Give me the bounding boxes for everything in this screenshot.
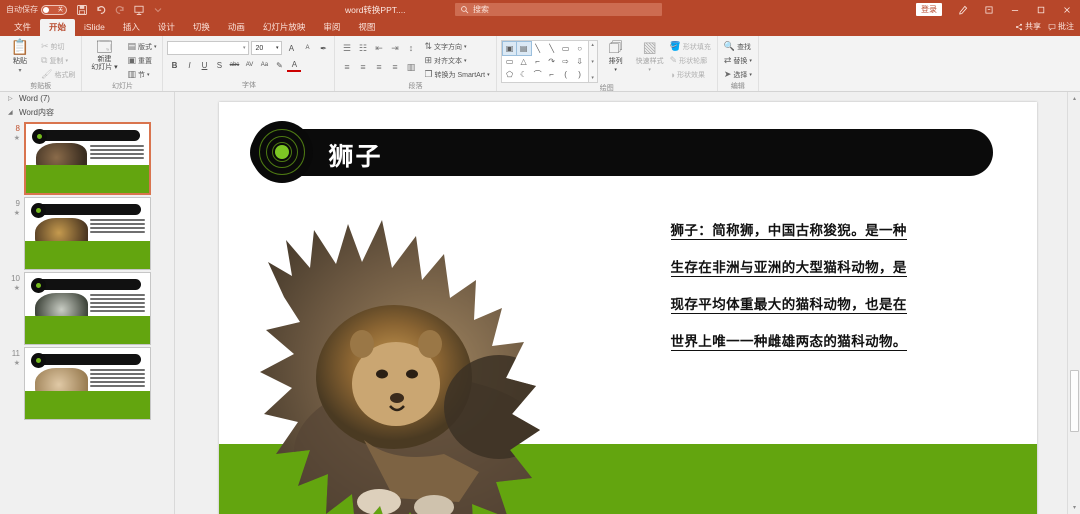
slide-number-9: 9 ★ (2, 197, 22, 219)
close-icon[interactable] (1054, 0, 1080, 19)
autosave-switch[interactable]: 关 (41, 5, 67, 15)
slide-thumbnail-8[interactable] (24, 122, 151, 195)
slide-title-text[interactable]: 狮子 (329, 137, 383, 173)
layout-button[interactable]: ▤ 版式 ▾ (125, 40, 158, 53)
body-line-2: 现存平均体重最大的猫科动物，也是在 (671, 297, 907, 314)
tab-islide[interactable]: iSlide (75, 19, 114, 36)
animation-star-icon: ★ (2, 359, 20, 369)
ribbon-group-font: ▾ 20 ▾ A A ✒ B I U S abc AV Aa ✎ A (163, 36, 335, 91)
thumb-body-lines (90, 145, 144, 159)
align-text-button[interactable]: ⊞ 对齐文本 ▾ (422, 54, 491, 67)
paste-icon: 📋 (11, 40, 30, 55)
align-left-button[interactable]: ≡ (339, 60, 354, 74)
scroll-down-icon[interactable]: ▾ (591, 59, 594, 65)
layout-icon: ▤ (127, 41, 136, 52)
thumb-green-band (25, 391, 150, 419)
animation-star-icon: ★ (2, 134, 20, 144)
slide-thumbnail-9[interactable] (24, 197, 151, 270)
tab-review[interactable]: 审阅 (314, 19, 349, 36)
autosave-toggle[interactable]: 自动保存 关 (6, 4, 67, 15)
arrange-label: 排列 (609, 56, 623, 66)
ribbon-group-clipboard: 📋 粘贴 ▾ ✂ 剪切 ⧉ 复制 ▾ 🖌 格式刷 剪贴板 (0, 36, 82, 91)
ribbon-tab-strip: 文件 开始 iSlide 插入 设计 切换 动画 幻灯片放映 审阅 视图 共享 … (0, 19, 1080, 36)
search-placeholder: 搜索 (473, 4, 489, 15)
slides-group-label: 幻灯片 (86, 81, 158, 92)
thumbnail-item-10[interactable]: 10 ★ (0, 270, 174, 345)
tab-transitions[interactable]: 切换 (184, 19, 219, 36)
tab-file[interactable]: 文件 (5, 19, 40, 36)
text-direction-button[interactable]: ⇅ 文字方向 ▾ (422, 40, 491, 53)
thumb-body-lines (90, 219, 145, 233)
share-icon (1015, 23, 1023, 31)
window-controls: 登录 (916, 0, 1080, 19)
shape-rounded-rect-icon[interactable]: ▭ (503, 55, 517, 68)
text-direction-icon: ⇅ (424, 41, 432, 52)
underline-button[interactable]: U (197, 58, 211, 72)
align-text-icon: ⊞ (424, 55, 432, 66)
clear-formatting-button[interactable]: ✒ (316, 41, 330, 55)
quick-styles-button[interactable]: ▧ 快速样式 ▾ (634, 38, 666, 73)
align-center-button[interactable]: ≡ (355, 60, 370, 74)
align-right-button[interactable]: ≡ (371, 60, 386, 74)
thumb-title-bar (36, 279, 141, 290)
vertical-scrollbar[interactable]: ▴ ▾ (1067, 92, 1080, 514)
undo-icon[interactable] (95, 4, 107, 16)
decrease-indent-button[interactable]: ⇤ (371, 41, 386, 55)
italic-button[interactable]: I (182, 58, 196, 72)
thumb-title-bar (36, 204, 141, 215)
tab-view[interactable]: 视图 (349, 19, 384, 36)
bold-button[interactable]: B (167, 58, 181, 72)
maximize-icon[interactable] (1028, 0, 1054, 19)
new-slide-button[interactable]: 🗔 新建幻灯片 ▾ (86, 38, 122, 72)
shape-effects-label: 形状效果 (677, 70, 705, 80)
shape-line-icon[interactable]: ╲ (531, 42, 545, 55)
current-slide[interactable]: 狮子 (219, 102, 1037, 514)
ribbon: 📋 粘贴 ▾ ✂ 剪切 ⧉ 复制 ▾ 🖌 格式刷 剪贴板 (0, 36, 1080, 92)
reset-button[interactable]: ▣ 重置 (125, 54, 158, 67)
convert-smartart-button[interactable]: ❐ 转换为 SmartArt ▾ (422, 68, 491, 81)
shape-triangle-icon[interactable]: △ (517, 55, 531, 68)
comments-label: 批注 (1058, 21, 1074, 32)
thumb-badge-icon (31, 353, 46, 368)
scissors-icon: ✂ (41, 41, 49, 52)
slide-thumbnail-panel[interactable]: ▷ Word (7) ◢ Word内容 8 ★ 9 (0, 92, 175, 514)
outline-section-word7[interactable]: ▷ Word (7) (0, 92, 174, 105)
shrink-font-button[interactable]: A (300, 41, 314, 55)
body-line-1: 生存在非洲与亚洲的大型猫科动物，是 (671, 260, 907, 277)
shape-outline-button[interactable]: ✎ 形状轮廓 (668, 54, 713, 67)
outline-section-word-content[interactable]: ◢ Word内容 (0, 105, 174, 120)
slide-badge-target-icon (251, 121, 313, 183)
thumb-body-lines (90, 369, 145, 387)
slide-number-11: 11 ★ (2, 347, 22, 369)
minimize-icon[interactable] (1002, 0, 1028, 19)
reset-label: 重置 (138, 56, 152, 66)
reset-icon: ▣ (127, 55, 136, 66)
thumbnail-item-11[interactable]: 11 ★ (0, 345, 174, 420)
replace-button[interactable]: ⇄ 替换 ▾ (722, 54, 754, 67)
ribbon-group-paragraph: ☰ ☷ ⇤ ⇥ ↕ ≡ ≡ ≡ ≡ ▥ ⇅ 文字方向 ▾ (335, 36, 496, 91)
copy-button[interactable]: ⧉ 复制 ▾ (39, 54, 77, 67)
quick-styles-icon: ▧ (643, 40, 657, 55)
redo-icon[interactable] (114, 4, 126, 16)
text-shadow-button[interactable]: S (212, 58, 226, 72)
present-icon[interactable] (133, 4, 145, 16)
chevron-down-icon[interactable]: ▾ (18, 67, 21, 74)
section-button[interactable]: ▥ 节 ▾ (125, 68, 158, 81)
text-direction-label: 文字方向 (434, 42, 462, 52)
thumb-green-band (25, 316, 150, 344)
font-group-label: 字体 (167, 80, 330, 91)
thumb-badge-icon (31, 278, 46, 293)
shape-fill-label: 形状填充 (683, 42, 711, 52)
scrollbar-thumb[interactable] (1070, 370, 1079, 432)
tab-home[interactable]: 开始 (40, 19, 75, 36)
align-text-label: 对齐文本 (434, 56, 462, 66)
justify-button[interactable]: ≡ (387, 60, 402, 74)
document-title: word转换PPT.... (345, 4, 405, 16)
animation-star-icon: ★ (2, 284, 20, 294)
replace-label: 替换 (733, 56, 747, 66)
shape-arrow-icon[interactable]: ╲ (545, 42, 559, 55)
more-commands-icon[interactable] (152, 4, 164, 16)
save-icon[interactable] (76, 4, 88, 16)
chevron-right-icon[interactable]: ▷ (8, 95, 15, 102)
search-input[interactable]: 搜索 (455, 3, 662, 16)
autosave-label: 自动保存 (6, 4, 38, 15)
shape-effects-button[interactable]: ◑ 形状效果 (668, 68, 713, 81)
tab-design[interactable]: 设计 (149, 19, 184, 36)
quick-styles-label: 快速样式 (636, 56, 664, 66)
shapes-more-icon[interactable]: ▾ (591, 75, 594, 81)
search-icon (460, 5, 469, 14)
grow-font-button[interactable]: A (284, 41, 298, 55)
slide-canvas-area: 狮子 (175, 92, 1080, 514)
shape-rectangle-icon[interactable]: ▭ (559, 42, 573, 55)
shape-left-brace-icon[interactable]: ( (559, 68, 573, 81)
slide-number-label: 9 (16, 199, 20, 208)
tab-insert[interactable]: 插入 (114, 19, 149, 36)
new-slide-icon: 🗔 (96, 40, 112, 55)
cut-button[interactable]: ✂ 剪切 (39, 40, 77, 53)
outline-label-0: Word (7) (19, 94, 50, 103)
title-bar: 自动保存 关 word转换PPT.... 搜 (0, 0, 1080, 19)
shape-oval-icon[interactable]: ○ (573, 42, 587, 55)
effects-icon: ◑ (670, 70, 675, 80)
ribbon-group-editing: 🔍 查找 ⇄ 替换 ▾ ➤ 选择 ▾ 编辑 (718, 36, 759, 91)
chevron-down-icon[interactable]: ◢ (8, 109, 15, 116)
font-color-button[interactable]: A (287, 58, 301, 72)
scroll-up-icon[interactable]: ▴ (591, 42, 594, 48)
paste-button[interactable]: 📋 粘贴 ▾ (4, 38, 36, 74)
font-size-combobox[interactable]: 20 ▾ (251, 41, 282, 55)
shape-down-arrow-icon[interactable]: ⇩ (573, 55, 587, 68)
scroll-down-icon[interactable]: ▾ (1068, 501, 1080, 514)
share-button[interactable]: 共享 (1015, 21, 1041, 32)
arrange-icon: 🗇 (609, 40, 623, 55)
search-icon: 🔍 (724, 41, 735, 52)
increase-indent-button[interactable]: ⇥ (387, 41, 402, 55)
thumb-badge-icon (31, 203, 46, 218)
format-painter-button[interactable]: 🖌 格式刷 (39, 68, 77, 81)
shape-pentagon-icon[interactable]: ⬠ (503, 68, 517, 81)
smartart-label: 转换为 SmartArt (435, 70, 486, 80)
copy-icon: ⧉ (41, 55, 47, 66)
thumbnail-item-9[interactable]: 9 ★ (0, 195, 174, 270)
strikethrough-button[interactable]: abc (227, 58, 241, 72)
new-slide-label: 新建幻灯片 ▾ (91, 56, 117, 72)
cut-label: 剪切 (51, 42, 65, 52)
tab-slideshow[interactable]: 幻灯片放映 (254, 19, 315, 36)
character-spacing-button[interactable]: AV (242, 58, 256, 72)
slide-number-label: 8 (16, 124, 20, 133)
shape-outline-label: 形状轮廓 (679, 56, 707, 66)
comment-icon (1048, 23, 1056, 31)
find-button[interactable]: 🔍 查找 (722, 40, 754, 53)
section-icon: ▥ (127, 69, 136, 80)
thumb-green-band (26, 165, 149, 193)
layout-label: 版式 (138, 42, 152, 52)
slide-thumbnail-11[interactable] (24, 347, 151, 420)
fill-bucket-icon: 🪣 (670, 41, 681, 52)
select-cursor-icon: ➤ (724, 69, 732, 80)
autosave-state: 关 (58, 6, 63, 13)
shape-moon-icon[interactable]: ☾ (517, 68, 531, 81)
text-highlight-button[interactable]: ✎ (272, 58, 286, 72)
shape-fill-button[interactable]: 🪣 形状填充 (668, 40, 713, 53)
paste-label: 粘贴 (13, 56, 27, 66)
ribbon-group-slides: 🗔 新建幻灯片 ▾ ▤ 版式 ▾ ▣ 重置 ▥ 节 ▾ (82, 36, 163, 91)
thumb-body-lines (90, 294, 145, 312)
shape-arc-icon[interactable]: ⌒ (531, 68, 545, 81)
thumb-title-bar (37, 130, 140, 140)
tab-animations[interactable]: 动画 (219, 19, 254, 36)
brush-icon: 🖌 (41, 69, 52, 80)
editing-group-label: 编辑 (722, 81, 754, 92)
slide-number-10: 10 ★ (2, 272, 22, 294)
thumb-title-bar (36, 354, 141, 365)
numbering-button[interactable]: ☷ (355, 41, 370, 55)
shape-vertical-textbox-icon[interactable]: ▤ (517, 42, 531, 55)
shapes-gallery[interactable]: ▣ ▤ ╲ ╲ ▭ ○ ▭ △ ⌐ ↷ ⇨ ⇩ ⬠ ☾ ⌒ ⌐ ( (501, 40, 589, 83)
shape-corner-icon[interactable]: ⌐ (545, 68, 559, 81)
outline-label-1: Word内容 (19, 107, 54, 118)
font-name-combobox[interactable]: ▾ (167, 41, 249, 55)
thumb-badge-icon (32, 129, 47, 144)
signin-button[interactable]: 登录 (916, 3, 942, 16)
ribbon-group-drawing: ▣ ▤ ╲ ╲ ▭ ○ ▭ △ ⌐ ↷ ⇨ ⇩ ⬠ ☾ ⌒ ⌐ ( (497, 36, 718, 91)
thumb-green-band (25, 241, 150, 269)
smartart-icon: ❐ (424, 69, 432, 80)
outline-pen-icon: ✎ (670, 55, 678, 66)
restore-window-icon[interactable] (976, 0, 1002, 19)
body-line-0: 狮子：简称狮，中国古称狻猊。是一种 (671, 223, 907, 240)
shape-elbow-icon[interactable]: ⌐ (531, 55, 545, 68)
find-label: 查找 (737, 42, 751, 52)
slide-body-text[interactable]: 狮子：简称狮，中国古称狻猊。是一种 生存在非洲与亚洲的大型猫科动物，是 现存平均… (671, 212, 971, 360)
main-area: ▷ Word (7) ◢ Word内容 8 ★ 9 (0, 92, 1080, 514)
animation-star-icon: ★ (2, 209, 20, 219)
format-painter-label: 格式刷 (54, 70, 75, 80)
slide-number-8: 8 ★ (2, 122, 22, 144)
line-spacing-button[interactable]: ↕ (403, 41, 418, 55)
replace-icon: ⇄ (724, 55, 732, 66)
shape-curve-icon[interactable]: ↷ (545, 55, 559, 68)
share-label: 共享 (1025, 21, 1041, 32)
ribbon-display-options-icon[interactable] (950, 0, 976, 19)
lion-photo[interactable] (244, 202, 596, 514)
slide-thumbnail-10[interactable] (24, 272, 151, 345)
select-label: 选择 (733, 70, 747, 80)
shapes-gallery-scrollbar[interactable]: ▴ ▾ ▾ (589, 40, 598, 83)
body-line-3: 世界上唯一一种雌雄两态的猫科动物。 (671, 334, 907, 351)
shape-right-arrow-icon[interactable]: ⇨ (559, 55, 573, 68)
arrange-button[interactable]: 🗇 排列 ▾ (600, 38, 632, 73)
clipboard-group-label: 剪贴板 (4, 81, 77, 92)
font-size-value: 20 (255, 45, 263, 52)
section-label: 节 (138, 70, 145, 80)
quick-access-toolbar (76, 4, 164, 16)
slide-number-label: 10 (11, 274, 20, 283)
paragraph-group-label: 段落 (339, 81, 491, 92)
comments-button[interactable]: 批注 (1048, 21, 1074, 32)
copy-label: 复制 (49, 56, 63, 66)
scroll-up-icon[interactable]: ▴ (1068, 92, 1080, 105)
select-button[interactable]: ➤ 选择 ▾ (722, 68, 754, 81)
columns-button[interactable]: ▥ (403, 60, 418, 74)
change-case-button[interactable]: Aa (257, 58, 271, 72)
shape-textbox-icon[interactable]: ▣ (503, 42, 517, 55)
bullets-button[interactable]: ☰ (339, 41, 354, 55)
thumbnail-item-8[interactable]: 8 ★ (0, 120, 174, 195)
slide-number-label: 11 (12, 349, 20, 358)
shape-right-brace-icon[interactable]: ) (573, 68, 587, 81)
ribbon-tab-actions: 共享 批注 (1015, 21, 1074, 32)
